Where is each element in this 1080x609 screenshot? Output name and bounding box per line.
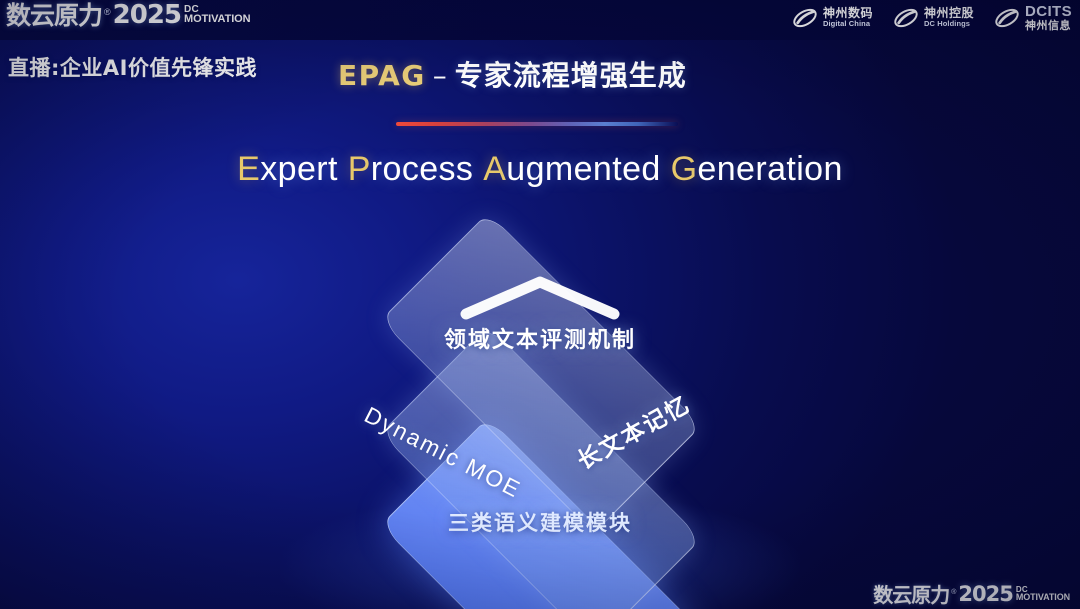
partner-logo-dcits: DCITS 神州信息	[994, 4, 1072, 31]
partner-label: 神州控股 DC Holdings	[924, 7, 974, 27]
watermark-logo: 数云原力 ® 2025 DC MOTIVATION	[873, 584, 1070, 605]
partner-name-en: DCITS	[1025, 4, 1072, 20]
subtitle-space-2	[473, 150, 483, 188]
swirl-logo-icon	[893, 5, 919, 31]
layer-plate-top	[390, 222, 692, 524]
brand-dc-line2: MOTIVATION	[184, 14, 250, 25]
partner-label: DCITS 神州信息	[1025, 4, 1072, 31]
title-dash: –	[426, 59, 455, 92]
plate-surface-top	[380, 212, 701, 533]
slide-canvas: 数云原力 ® 2025 DC MOTIVATION 神州数码 Digital C…	[0, 0, 1080, 609]
watermark-dc-motivation: DC MOTIVATION	[1016, 586, 1070, 602]
layer-stack-diagram: 领域文本评测机制 Dynamic MOE 长文本记忆 三类语义建模模块	[0, 222, 1080, 592]
watermark-registered-mark: ®	[951, 589, 956, 596]
chevron-up-icon	[456, 270, 624, 322]
subtitle-initial-a: A	[483, 150, 506, 188]
subtitle-initial-g: G	[671, 150, 698, 188]
brand-year: 2025	[113, 2, 181, 28]
layer-label-top: 领域文本评测机制	[430, 322, 650, 354]
subtitle-initial-p: P	[348, 150, 371, 188]
title-acronym: EPAG	[338, 59, 426, 92]
title-divider	[396, 122, 678, 126]
partner-logo-group: 神州数码 Digital China 神州控股 DC Holdings	[792, 4, 1072, 31]
partner-name-cn: 神州信息	[1025, 20, 1072, 32]
top-banner: 数云原力 ® 2025 DC MOTIVATION 神州数码 Digital C…	[0, 0, 1080, 40]
brand-dc-motivation: DC MOTIVATION	[184, 5, 250, 25]
subtitle-word-generation: eneration	[697, 150, 842, 188]
registered-mark: ®	[104, 7, 111, 17]
watermark-year: 2025	[958, 584, 1012, 605]
subtitle-space-1	[338, 150, 348, 188]
partner-label: 神州数码 Digital China	[823, 7, 873, 27]
swirl-logo-icon	[994, 5, 1020, 31]
title-chinese: 专家流程增强生成	[455, 59, 687, 92]
watermark-dc-line2: MOTIVATION	[1016, 593, 1070, 602]
subtitle-word-expert: xpert	[260, 150, 338, 188]
layer-label-bottom: 三类语义建模模块	[430, 507, 650, 537]
partner-logo-dc-holdings: 神州控股 DC Holdings	[893, 5, 974, 31]
subtitle-initial-e: E	[237, 150, 260, 188]
brand-name-cn: 数云原力	[6, 3, 102, 28]
subtitle-word-process: rocess	[371, 150, 474, 188]
subtitle-space-3	[661, 150, 671, 188]
subtitle-expansion: Expert Process Augmented Generation	[0, 150, 1080, 189]
brand-logo: 数云原力 ® 2025 DC MOTIVATION	[6, 2, 250, 28]
page-title: EPAG–专家流程增强生成	[338, 54, 687, 94]
swirl-logo-icon	[792, 5, 818, 31]
subtitle-word-augmented: ugmented	[506, 150, 660, 188]
watermark-name-cn: 数云原力	[873, 585, 949, 605]
partner-name-en: Digital China	[823, 20, 873, 28]
partner-name-en: DC Holdings	[924, 20, 974, 28]
partner-logo-digital-china: 神州数码 Digital China	[792, 5, 873, 31]
live-stream-title: 直播:企业AI价值先锋实践	[8, 52, 257, 82]
